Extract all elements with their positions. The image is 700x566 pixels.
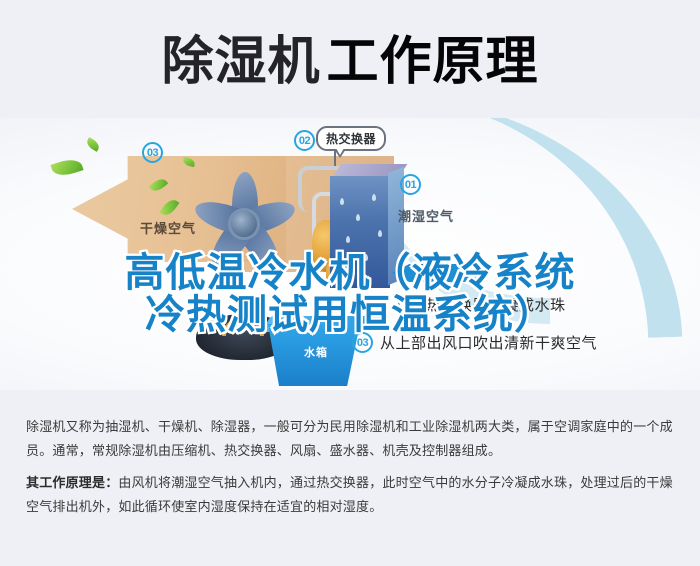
page-title-part2: 工作原理 [327,33,539,91]
step-badge-02: 02 [294,130,315,151]
step-caption-text-02: 热交换器冷凝成水珠 [426,294,566,315]
fan-icon [186,166,302,282]
body-copy: 除湿机又称为抽湿机、干燥机、除湿器，一般可分为民用除湿机和工业除湿机两大类，属于… [0,415,700,527]
step-badge-03: 03 [142,142,163,163]
step-caption-text-03: 从上部出风口吹出清新干爽空气 [380,332,597,353]
step-badge-01: 01 [400,174,421,195]
page-title-part1: 除湿机 [161,33,320,91]
intake-arrow-icon [392,264,478,282]
page-title: 除湿机工作原理 [0,32,700,92]
step-caption-badge-03: 03 [352,332,373,353]
step-caption-badge-02: 02 [398,294,419,315]
step-caption-03: 03 从上部出风口吹出清新干爽空气 [352,332,597,353]
dry-air-label: 干燥空气 [140,218,196,237]
fan-hub [228,208,260,240]
dehumidifier-diagram: 水箱 03 02 01 干燥空气 潮湿空气 热交换器 02 热交换器冷凝成水珠 … [0,118,700,390]
paragraph-2-rest: 由风机将潮湿空气抽入机内，通过热交换器，此时空气中的水分子冷凝成水珠，处理过后的… [26,475,673,514]
step-caption-02: 02 热交换器冷凝成水珠 [398,294,566,315]
water-tank-label: 水箱 [304,344,328,360]
paragraph-2-lead: 其工作原理是： [26,475,118,490]
heat-exchanger-callout: 热交换器 [316,126,386,151]
paragraph-2: 其工作原理是：由风机将潮湿空气抽入机内，通过热交换器，此时空气中的水分子冷凝成水… [26,471,674,519]
page-root: 除湿机工作原理 [0,0,700,566]
paragraph-1: 除湿机又称为抽湿机、干燥机、除湿器，一般可分为民用除湿机和工业除湿机两大类，属于… [26,415,674,463]
humid-air-label: 潮湿空气 [398,206,454,225]
